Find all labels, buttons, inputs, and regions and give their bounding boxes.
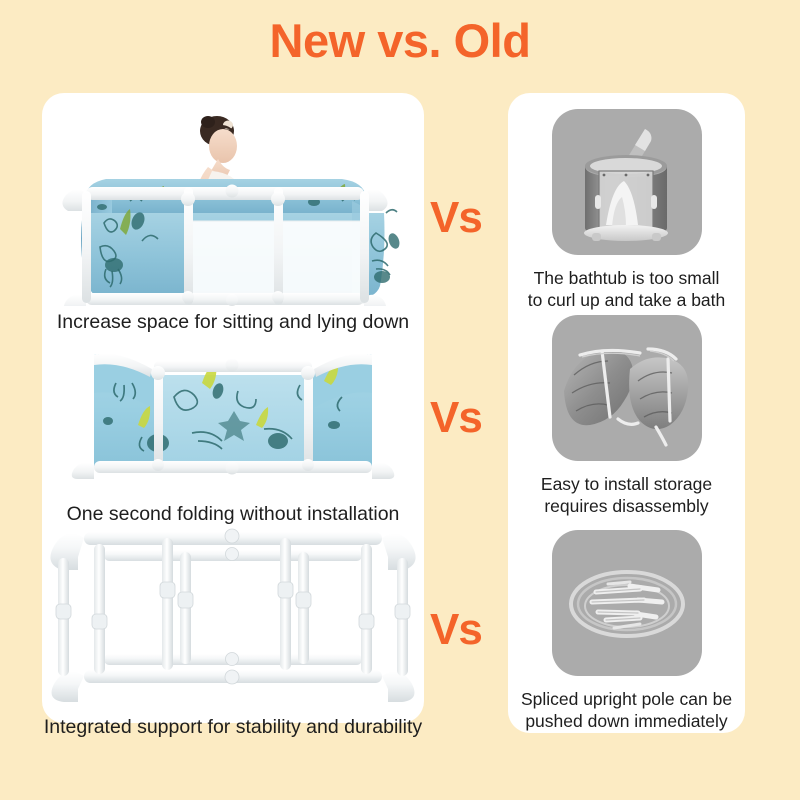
new-item-0: Increase space for sitting and lying dow… bbox=[42, 101, 424, 306]
small-round-bathtub-illustration bbox=[552, 109, 702, 255]
old-caption-1: Easy to install storage requires disasse… bbox=[508, 473, 745, 518]
vs-marker-0: Vs bbox=[430, 196, 482, 240]
old-caption-1-line-1: Easy to install storage bbox=[508, 473, 745, 495]
crumpled-fabric-tub-illustration bbox=[552, 315, 702, 461]
old-product-panel: The bathtub is too small to curl up and … bbox=[508, 93, 745, 733]
old-item-1: Easy to install storage requires disasse… bbox=[508, 315, 745, 518]
pvc-support-frame-illustration bbox=[42, 518, 424, 713]
page-title: New vs. Old bbox=[0, 16, 800, 67]
old-caption-1-line-2: requires disassembly bbox=[508, 495, 745, 517]
old-item-2: Spliced upright pole can be pushed down … bbox=[508, 530, 745, 733]
vs-marker-2: Vs bbox=[430, 608, 482, 652]
infographic-page: New vs. Old bbox=[0, 0, 800, 800]
disassembled-poles-illustration bbox=[552, 530, 702, 676]
old-item-0: The bathtub is too small to curl up and … bbox=[508, 109, 745, 312]
bathtub-with-person-illustration bbox=[42, 101, 424, 306]
new-product-panel: Increase space for sitting and lying dow… bbox=[42, 93, 424, 723]
old-caption-0-line-1: The bathtub is too small bbox=[508, 267, 745, 289]
old-caption-2-line-2: pushed down immediately bbox=[508, 710, 745, 732]
old-caption-0-line-2: to curl up and take a bath bbox=[508, 289, 745, 311]
old-caption-2: Spliced upright pole can be pushed down … bbox=[508, 688, 745, 733]
new-caption-2: Integrated support for stability and dur… bbox=[42, 715, 424, 739]
folded-bathtub-illustration bbox=[42, 325, 424, 500]
vs-marker-1: Vs bbox=[430, 396, 482, 440]
new-item-1: One second folding without installation bbox=[42, 325, 424, 500]
old-caption-0: The bathtub is too small to curl up and … bbox=[508, 267, 745, 312]
old-caption-2-line-1: Spliced upright pole can be bbox=[508, 688, 745, 710]
new-item-2: Integrated support for stability and dur… bbox=[42, 518, 424, 713]
